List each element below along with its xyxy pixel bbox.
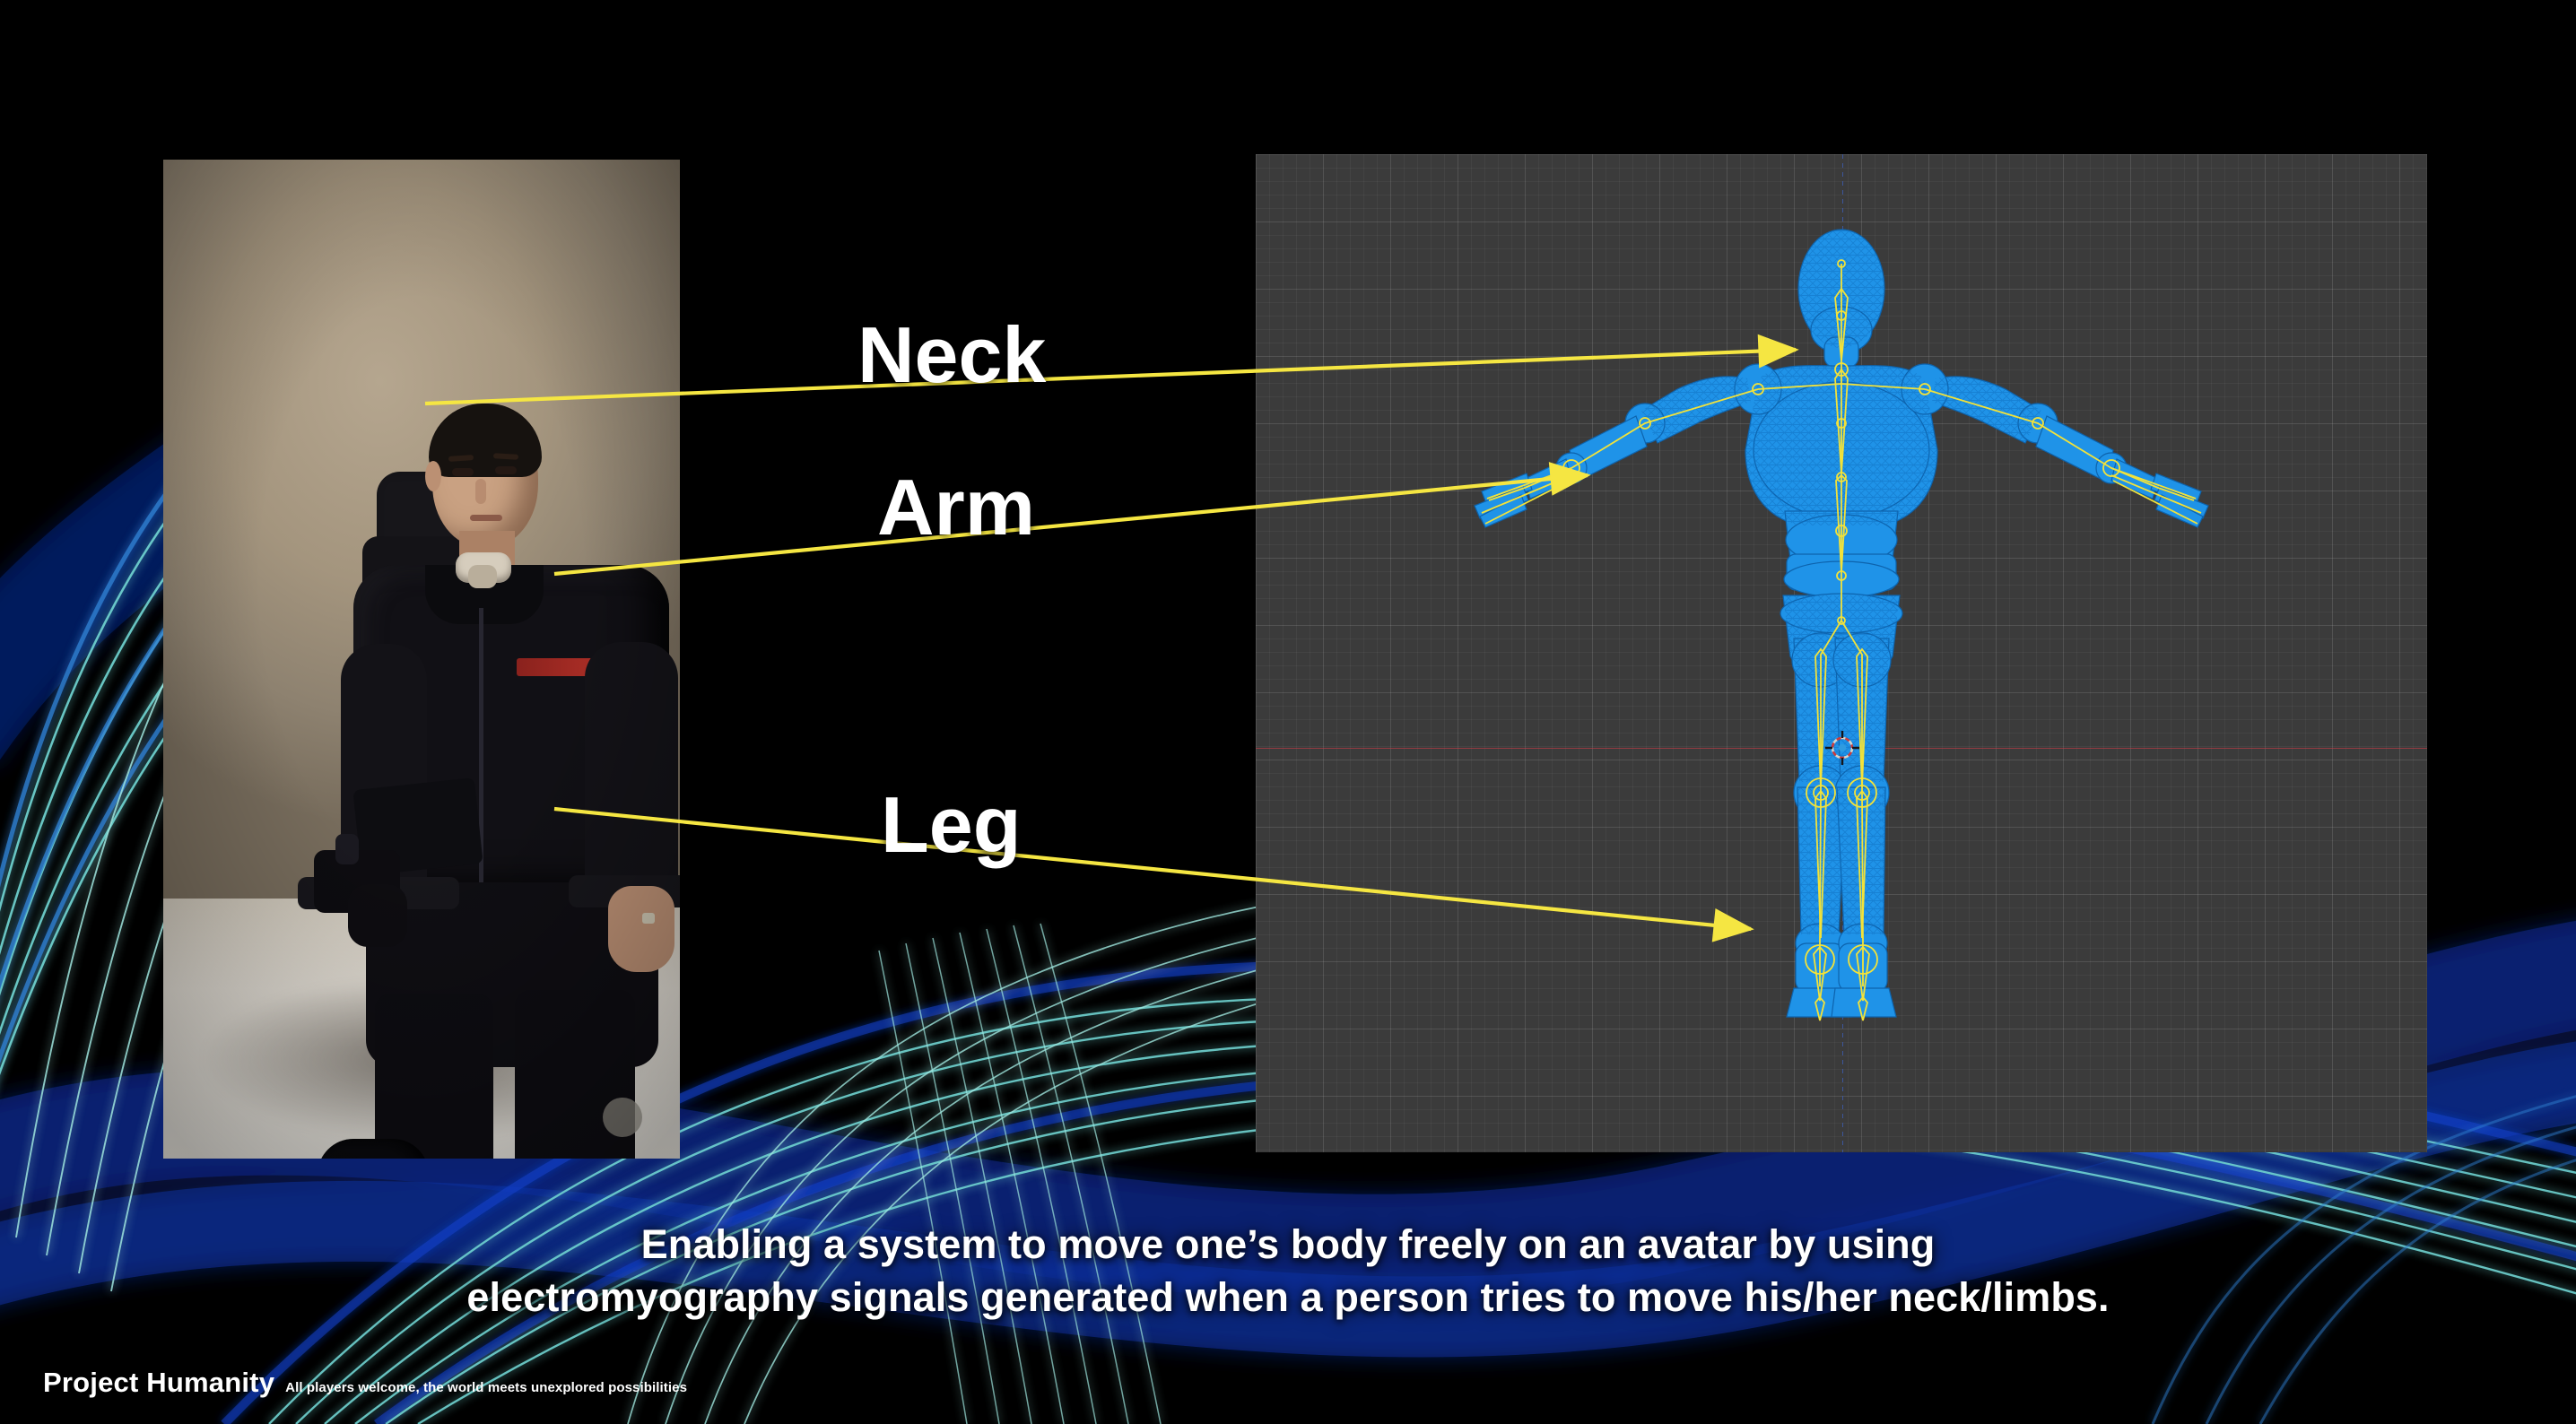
blender-3d-viewport[interactable] — [1256, 154, 2427, 1152]
caption-line-1: Enabling a system to move one’s body fre… — [0, 1218, 2576, 1271]
footer: Project Humanity All players welcome, th… — [43, 1367, 687, 1399]
3d-cursor-icon — [1825, 731, 1859, 765]
caption-line-2: electromyography signals generated when … — [0, 1271, 2576, 1324]
label-leg: Leg — [881, 786, 1021, 864]
subject-photo — [163, 160, 680, 1159]
label-neck: Neck — [857, 316, 1046, 395]
label-arm: Arm — [877, 468, 1035, 547]
avatar-wireframe-model — [1256, 154, 2427, 1152]
footer-brand: Project Humanity — [43, 1367, 274, 1399]
slide-caption: Enabling a system to move one’s body fre… — [0, 1218, 2576, 1324]
footer-tagline: All players welcome, the world meets une… — [285, 1380, 687, 1395]
slide-root: Neck Arm Leg Enabling a system to move o… — [0, 0, 2576, 1424]
photo-vignette — [163, 160, 680, 1159]
